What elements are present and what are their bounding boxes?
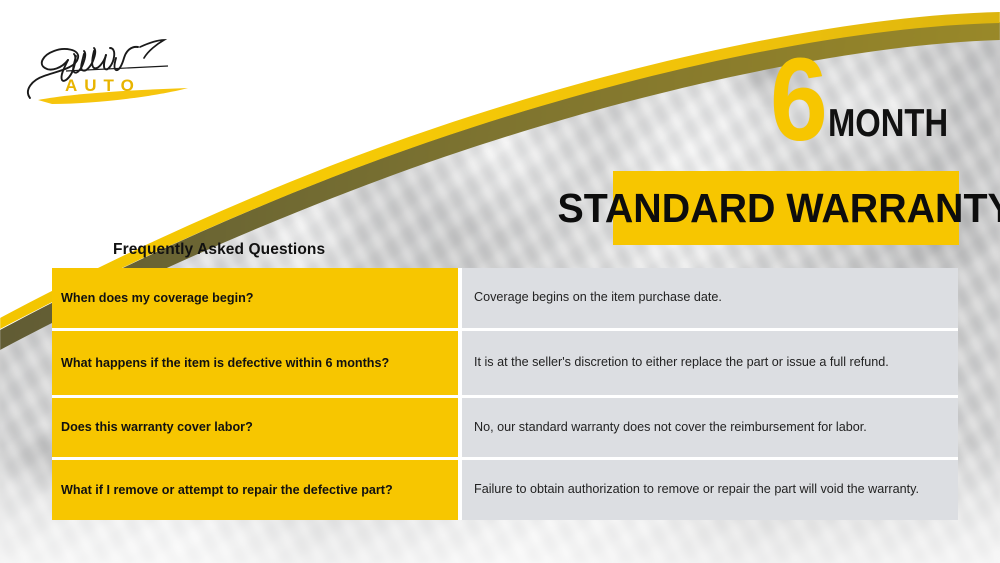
faq-answer: No, our standard warranty does not cover… <box>462 398 958 460</box>
warranty-banner-title: STANDARD WARRANTY <box>558 185 1000 232</box>
faq-question: When does my coverage begin? <box>52 268 462 331</box>
faq-table: When does my coverage begin? Coverage be… <box>52 268 958 520</box>
duration-unit: MONTH <box>828 104 948 149</box>
warranty-slide: AUTO 6 MONTH STANDARD WARRANTY Frequentl… <box>0 0 1000 563</box>
warranty-banner: STANDARD WARRANTY <box>613 171 959 245</box>
duration-number: 6 <box>770 52 826 149</box>
faq-answer: Coverage begins on the item purchase dat… <box>462 268 958 331</box>
table-row: What if I remove or attempt to repair th… <box>52 460 958 520</box>
faq-answer: It is at the seller's discretion to eith… <box>462 331 958 398</box>
faq-question: Does this warranty cover labor? <box>52 398 462 460</box>
duration-group: 6 MONTH <box>770 52 971 149</box>
faq-heading: Frequently Asked Questions <box>113 241 325 259</box>
faq-answer: Failure to obtain authorization to remov… <box>462 460 958 520</box>
faq-question: What happens if the item is defective wi… <box>52 331 462 398</box>
logo-artwork: AUTO <box>18 20 208 110</box>
svg-text:AUTO: AUTO <box>65 76 141 95</box>
table-row: Does this warranty cover labor? No, our … <box>52 398 958 460</box>
faq-question: What if I remove or attempt to repair th… <box>52 460 462 520</box>
seymour-auto-logo: AUTO <box>18 20 208 110</box>
table-row: What happens if the item is defective wi… <box>52 331 958 398</box>
table-row: When does my coverage begin? Coverage be… <box>52 268 958 331</box>
